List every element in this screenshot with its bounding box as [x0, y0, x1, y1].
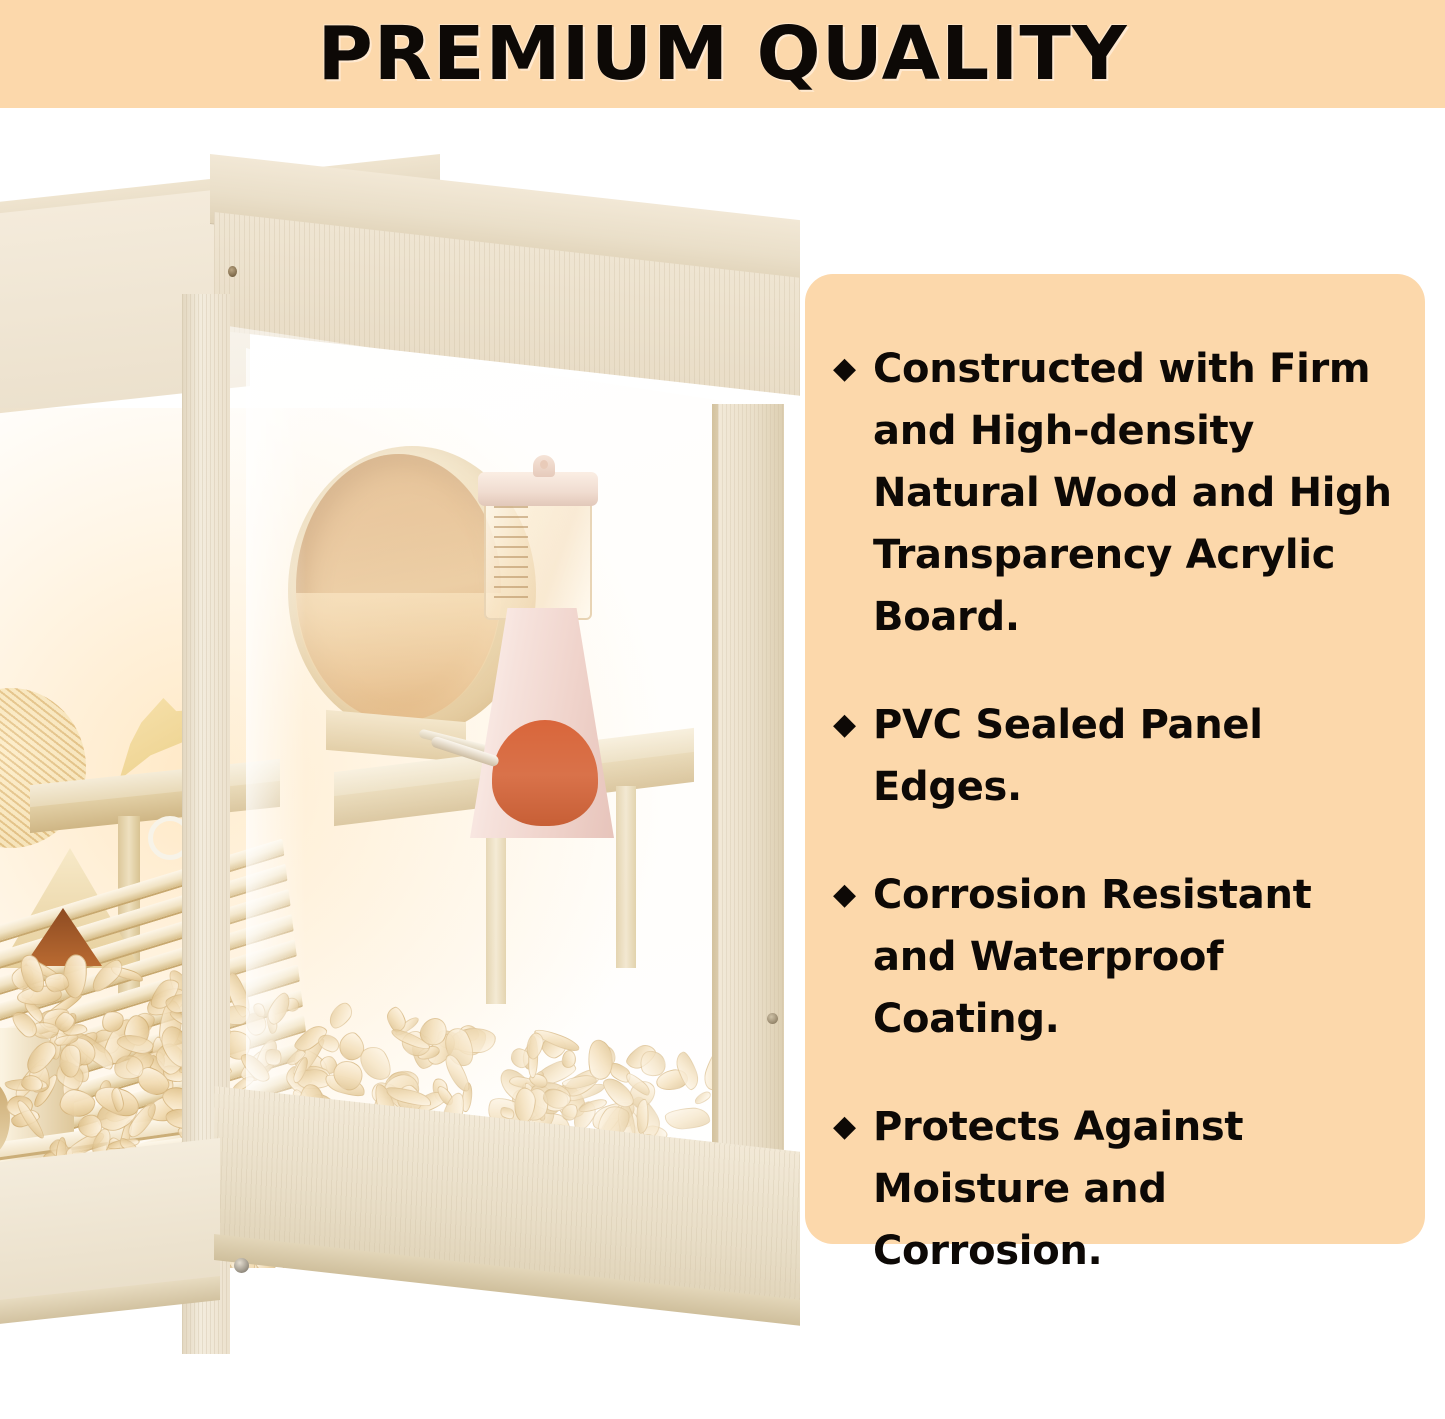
base-screw-icon: [234, 1258, 249, 1273]
list-item: ◆ Corrosion Resistant and Waterproof Coa…: [833, 864, 1395, 1050]
feature-list-panel: ◆ Constructed with Firm and High-density…: [805, 274, 1425, 1244]
bedding-flake: [325, 1000, 356, 1033]
infographic-page: PREMIUM QUALITY: [0, 0, 1445, 1419]
bedding-flake: [693, 1089, 713, 1107]
bedding-flake: [665, 1106, 711, 1129]
right-post-screw-icon: [767, 1013, 778, 1024]
acrylic-highlight: [246, 348, 306, 1178]
feature-text: PVC Sealed Panel Edges.: [873, 694, 1395, 818]
feature-text: Protects Against Moisture and Corrosion.: [873, 1096, 1395, 1282]
water-bottle-cap: [478, 472, 598, 506]
exercise-wheel-bore: [296, 454, 501, 722]
water-bottle-hanger: [533, 455, 555, 477]
diamond-bullet-icon: ◆: [833, 864, 863, 926]
list-item: ◆ PVC Sealed Panel Edges.: [833, 694, 1395, 818]
feature-text: Corrosion Resistant and Waterproof Coati…: [873, 864, 1395, 1050]
product-photo: [0, 108, 800, 1419]
cage-front-right-post: [718, 404, 784, 1204]
page-title: PREMIUM QUALITY: [0, 0, 1445, 108]
apron-screw-icon: [228, 266, 237, 277]
feature-bullet-list: ◆ Constructed with Firm and High-density…: [833, 338, 1395, 1282]
list-item: ◆ Protects Against Moisture and Corrosio…: [833, 1096, 1395, 1282]
list-item: ◆ Constructed with Firm and High-density…: [833, 338, 1395, 648]
diamond-bullet-icon: ◆: [833, 694, 863, 756]
diamond-bullet-icon: ◆: [833, 1096, 863, 1158]
diamond-bullet-icon: ◆: [833, 338, 863, 400]
header-banner: PREMIUM QUALITY: [0, 0, 1445, 108]
feature-text: Constructed with Firm and High-density N…: [873, 338, 1395, 648]
